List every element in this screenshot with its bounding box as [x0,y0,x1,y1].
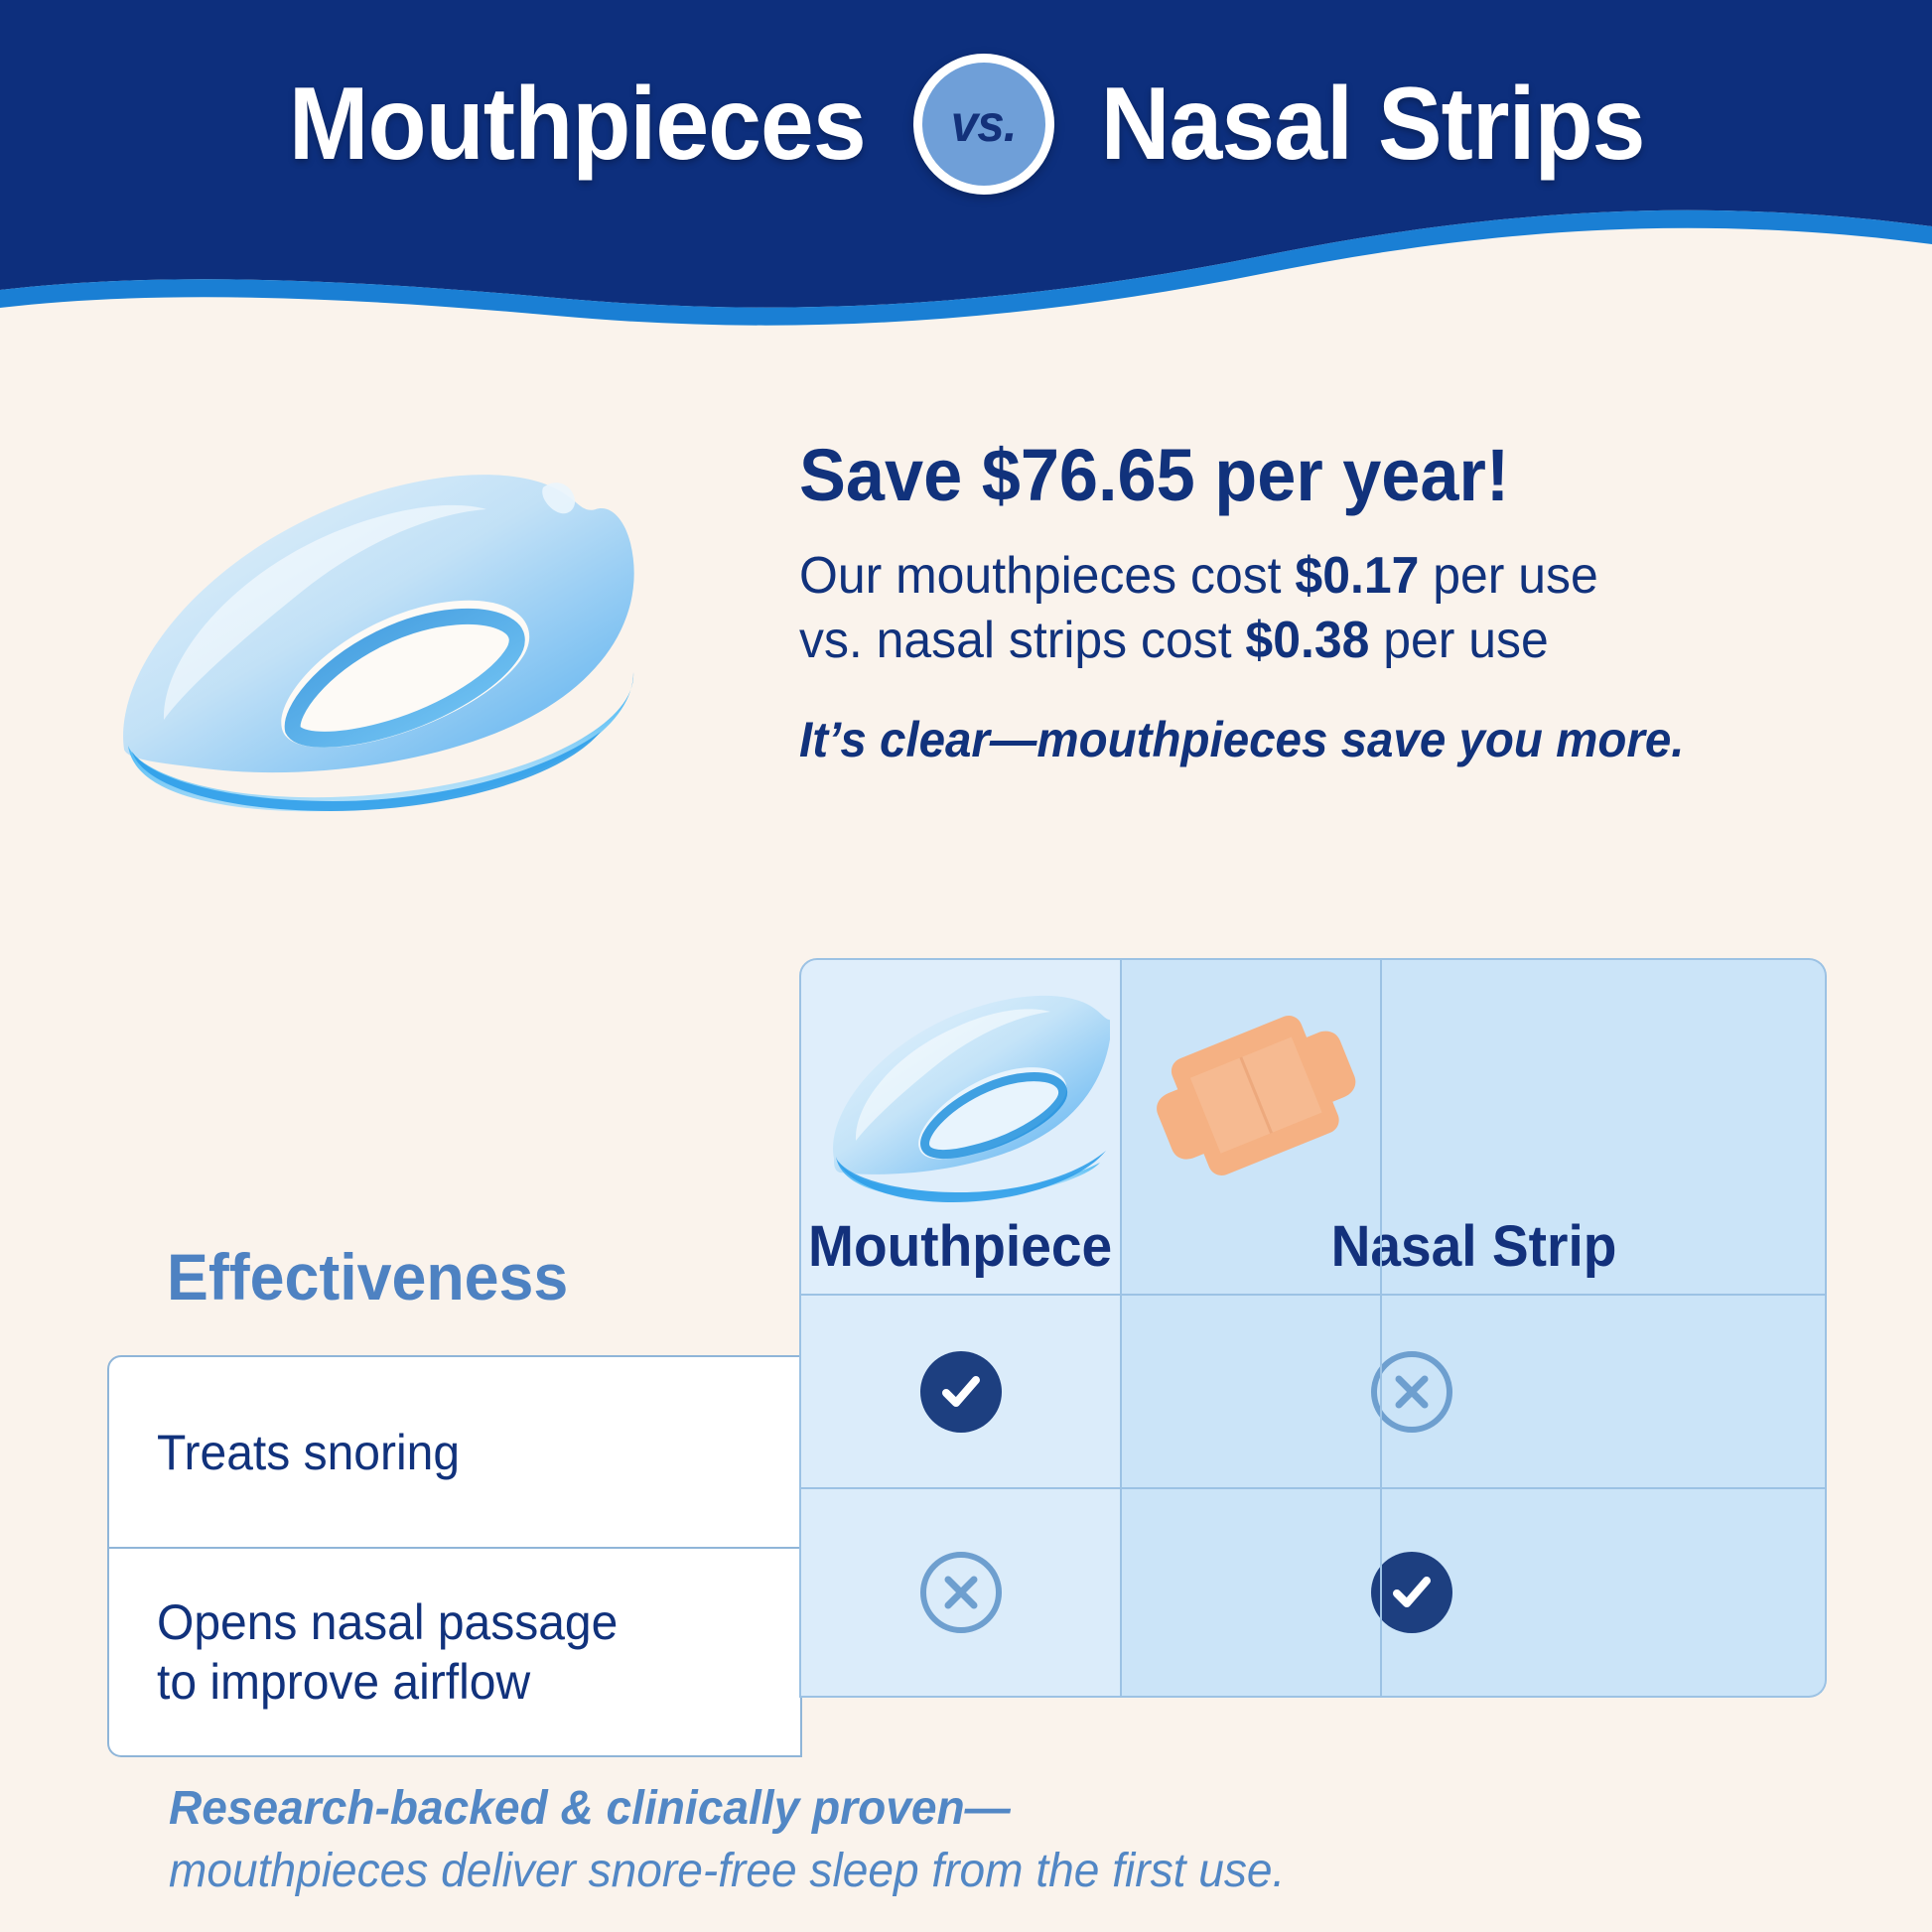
vs-badge: vs. [913,54,1054,195]
header-banner: Mouthpieces vs. Nasal Strips [0,0,1932,328]
save-headline-amount: $76.65 [982,434,1195,516]
cost-line-1-value: $0.17 [1295,547,1419,605]
table-cell-nasal-strip-opens-nasal-passage [1122,1489,1827,1698]
table-column-header-mouthpiece: Mouthpiece [799,958,1122,1296]
cost-line-2-prefix: vs. nasal strips cost [799,612,1245,669]
header-title-right: Nasal Strips [1100,72,1644,176]
nasal-strip-product-photo [1130,980,1388,1208]
cross-icon [1371,1351,1452,1433]
table-column-header-label: Mouthpiece [808,1218,1112,1276]
table-column-header-label: Nasal Strip [1330,1218,1616,1276]
table-row-label-treats-snoring: Treats snoring [107,1355,802,1549]
clear-statement: It’s clear—mouthpieces save you more. [799,711,1818,768]
header-title-row: Mouthpieces vs. Nasal Strips [0,0,1932,248]
footer-line-1: Research-backed & clinically proven— [169,1777,1789,1840]
cost-line-1-suffix: per use [1419,547,1597,605]
cost-comparison-text: Our mouthpieces cost $0.17 per use vs. n… [799,544,1829,673]
cost-line-mouthpiece: Our mouthpieces cost $0.17 per use [799,544,1829,609]
hero-copy: Save $76.65 per year! Our mouthpieces co… [799,437,1871,768]
row-label-line-2: to improve airflow [157,1654,530,1710]
table-cell-nasal-strip-treats-snoring [1122,1296,1827,1489]
row-label-text: Treats snoring [157,1423,460,1482]
table-right-edge-divider [1380,958,1382,1698]
cross-icon [920,1552,1002,1633]
mouthpiece-product-photo [812,980,1110,1218]
row-label-line-1: Treats snoring [157,1425,460,1480]
comparison-table: Mouthpiece Nasal Strip [799,958,1827,1698]
check-icon [920,1351,1002,1433]
cost-line-2-suffix: per use [1369,612,1548,669]
hero-section: Save $76.65 per year! Our mouthpieces co… [0,437,1932,854]
footer-note: Research-backed & clinically proven— mou… [169,1777,1789,1903]
save-headline-prefix: Save [799,434,982,516]
row-label-text: Opens nasal passage to improve airflow [157,1592,618,1712]
table-row-label-opens-nasal-passage: Opens nasal passage to improve airflow [107,1549,802,1757]
check-icon [1371,1552,1452,1633]
effectiveness-section-label: Effectiveness [167,1239,568,1314]
table-cell-mouthpiece-treats-snoring [799,1296,1122,1489]
cost-line-1-prefix: Our mouthpieces cost [799,547,1295,605]
table-column-header-nasal-strip: Nasal Strip [1122,958,1827,1296]
header-title-left: Mouthpieces [289,72,866,176]
save-headline: Save $76.65 per year! [799,437,1818,514]
save-headline-suffix: per year! [1195,434,1510,516]
footer-line-2: mouthpieces deliver snore-free sleep fro… [169,1840,1789,1902]
cost-line-2-value: $0.38 [1245,612,1369,669]
vs-badge-label: vs. [951,94,1017,154]
cost-line-nasal: vs. nasal strips cost $0.38 per use [799,609,1829,673]
mouthpiece-product-photo [94,452,730,839]
table-cell-mouthpiece-opens-nasal-passage [799,1489,1122,1698]
row-label-line-1: Opens nasal passage [157,1594,618,1650]
